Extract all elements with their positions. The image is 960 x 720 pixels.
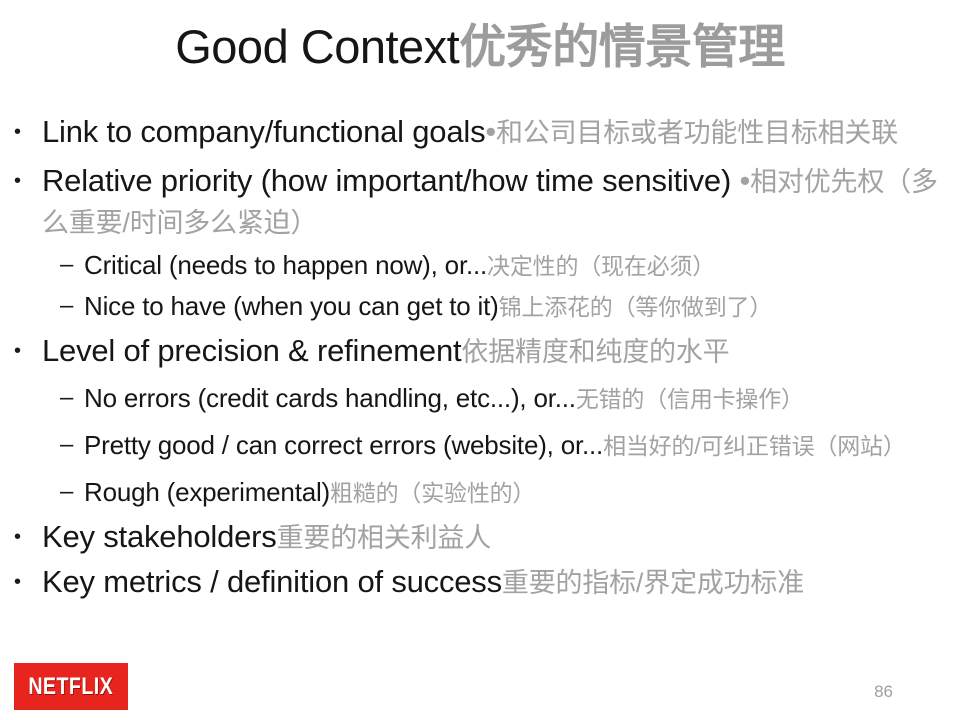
bullet-marker-icon: • [14,517,21,557]
list-item-english: Critical (needs to happen now), or... [84,250,487,280]
list-item-chinese: 无错的（信用卡操作） [576,386,804,412]
page-title-english: Good Context [175,20,459,73]
bullet-marker-icon: • [14,562,21,602]
dash-marker-icon: – [60,247,73,283]
list-item-separator: • [485,114,496,149]
list-item-chinese: 锦上添花的（等你做到了） [499,294,773,320]
list-item: – Critical (needs to happen now), or...决… [12,247,956,284]
netflix-wordmark: NETFLIX [29,675,114,699]
bullet-marker-icon: • [14,112,21,152]
page-title: Good Context优秀的情景管理 [0,18,960,76]
list-item-chinese: 重要的指标/界定成功标准 [502,568,804,598]
list-item: • Key metrics / definition of success重要的… [12,562,956,603]
list-item: • Link to company/functional goals•和公司目标… [12,112,956,153]
list-item-english: Relative priority (how important/how tim… [42,163,731,198]
dash-marker-icon: – [60,427,73,463]
list-item-english: No errors (credit cards handling, etc...… [84,383,576,413]
list-item-chinese: 相当好的/可纠正错误（网站） [603,433,906,459]
list-item: – Nice to have (when you can get to it)锦… [12,288,956,325]
list-item: – No errors (credit cards handling, etc.… [12,380,956,417]
list-item-english: Key stakeholders [42,519,277,554]
list-item-chinese: 粗糙的（实验性的） [330,480,535,506]
bullet-marker-icon: • [14,331,21,371]
dash-marker-icon: – [60,288,73,324]
list-item-chinese: 依据精度和纯度的水平 [461,337,729,367]
list-item: – Pretty good / can correct errors (webs… [12,427,956,464]
slide-canvas: Good Context优秀的情景管理 • Link to company/fu… [0,0,960,720]
page-title-chinese: 优秀的情景管理 [459,20,785,73]
list-item: • Key stakeholders重要的相关利益人 [12,517,956,558]
list-item-english: Pretty good / can correct errors (websit… [84,430,603,460]
list-item-english: Key metrics / definition of success [42,564,502,599]
list-item-english: Rough (experimental) [84,477,330,507]
bullet-list: • Link to company/functional goals•和公司目标… [12,112,956,605]
list-item-separator: • [731,163,750,198]
dash-marker-icon: – [60,474,73,510]
list-item-chinese: 和公司目标或者功能性目标相关联 [496,118,898,148]
list-item: – Rough (experimental)粗糙的（实验性的） [12,474,956,511]
bullet-marker-icon: • [14,161,21,201]
list-item-english: Link to company/functional goals [42,114,485,149]
list-item: • Level of precision & refinement依据精度和纯度… [12,331,956,372]
list-item-chinese: 重要的相关利益人 [277,523,491,553]
list-item-chinese: 决定性的（现在必须） [487,253,715,279]
list-item: • Relative priority (how important/how t… [12,161,956,243]
list-item-english: Level of precision & refinement [42,333,461,368]
page-number: 86 [874,682,893,702]
netflix-logo: NETFLIX [14,663,128,710]
list-item-english: Nice to have (when you can get to it) [84,291,499,321]
dash-marker-icon: – [60,380,73,416]
